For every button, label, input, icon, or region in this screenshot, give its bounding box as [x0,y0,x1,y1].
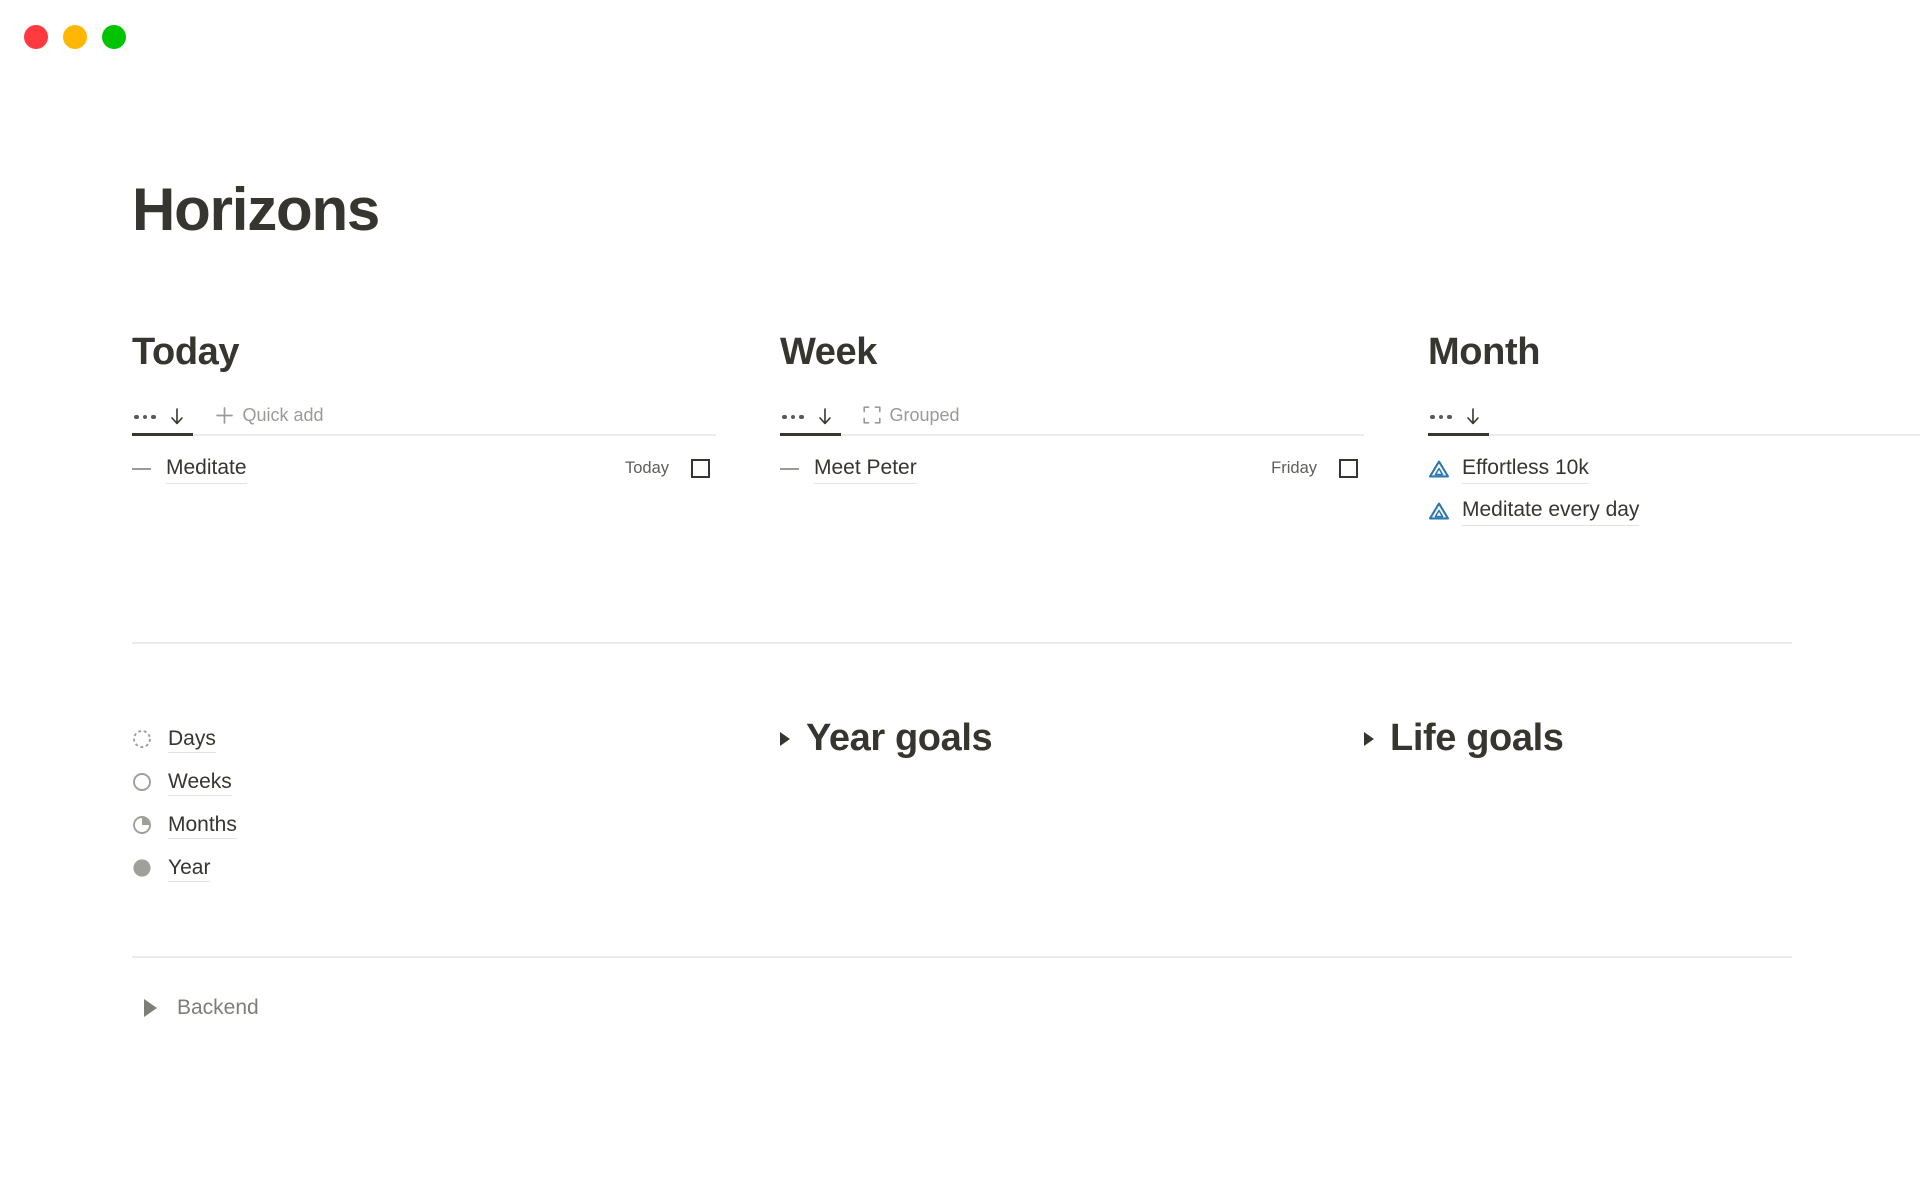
dashed-circle-icon [132,729,152,749]
triangle-right-icon[interactable] [1364,732,1374,746]
toolbar-view-tab-week[interactable] [780,408,841,436]
column-toolbar-today: Quick add [132,400,716,436]
column-toolbar-month [1428,400,1920,436]
table-row[interactable]: Meditate Today [132,448,716,490]
task-date: Today [625,459,669,478]
ellipsis-icon[interactable] [134,415,156,420]
toolbar-view-tab-month[interactable] [1428,408,1489,436]
triangle-right-icon[interactable] [780,732,790,746]
page-title: Horizons [132,180,1860,240]
arrow-down-icon[interactable] [169,408,185,426]
minimize-button[interactable] [63,25,87,49]
grouped-button-week[interactable]: Grouped [841,405,960,434]
grouped-label: Grouped [890,405,960,426]
task-list-month: Effortless 10k Meditate every day [1428,448,1920,532]
quarter-pie-icon [132,815,152,835]
ellipsis-icon[interactable] [1430,415,1452,420]
life-goals-header[interactable]: Life goals [1364,718,1920,760]
task-checkbox[interactable] [1339,459,1358,478]
year-goals-title: Year goals [806,718,992,760]
table-row[interactable]: Meet Peter Friday [780,448,1364,490]
task-list-week: Meet Peter Friday [780,448,1364,490]
plus-icon[interactable] [215,406,234,425]
column-toolbar-week: Grouped [780,400,1364,436]
year-goals-section: Year goals [780,718,1364,890]
triangle-right-icon[interactable] [144,999,157,1017]
life-goals-title: Life goals [1390,718,1564,760]
scale-label[interactable]: Weeks [168,768,232,796]
scale-label[interactable]: Year [168,854,210,882]
list-item[interactable]: Year [132,847,780,890]
task-title[interactable]: Meditate [166,454,247,484]
backend-label: Backend [177,996,259,1020]
task-date: Friday [1271,459,1317,478]
filled-circle-icon [132,858,152,878]
ellipsis-icon[interactable] [782,415,804,420]
life-goals-section: Life goals [1364,718,1920,890]
group-icon[interactable] [863,406,881,424]
board-columns: Today Quick add Medi [132,332,1860,532]
page-content: Horizons Today Quick add [0,180,1920,1020]
table-row[interactable]: Meditate every day [1428,490,1920,532]
backend-toggle[interactable]: Backend [132,996,1860,1020]
column-today: Today Quick add Medi [132,332,716,532]
section-divider [132,642,1792,644]
triangle-icon [1428,501,1462,521]
year-goals-header[interactable]: Year goals [780,718,1364,760]
column-title-week: Week [780,332,1364,374]
scales-list: Days Weeks Months [132,718,780,890]
arrow-down-icon[interactable] [817,408,833,426]
task-checkbox[interactable] [691,459,710,478]
column-title-today: Today [132,332,716,374]
table-row[interactable]: Effortless 10k [1428,448,1920,490]
list-item[interactable]: Days [132,718,780,761]
list-item[interactable]: Months [132,804,780,847]
column-month: Month Effortless [1428,332,1920,532]
column-title-month: Month [1428,332,1920,374]
lower-section: Days Weeks Months [132,718,1860,890]
quick-add-button-today[interactable]: Quick add [193,405,324,434]
dash-icon [132,468,166,471]
task-title[interactable]: Meet Peter [814,454,917,484]
scale-label[interactable]: Days [168,725,216,753]
section-divider [132,956,1792,958]
scale-label[interactable]: Months [168,811,237,839]
empty-circle-icon [132,772,152,792]
triangle-icon [1428,459,1462,479]
task-list-today: Meditate Today [132,448,716,490]
list-item[interactable]: Weeks [132,761,780,804]
dash-icon [780,468,814,471]
window-titlebar [0,0,1920,74]
close-button[interactable] [24,25,48,49]
quick-add-label: Quick add [243,405,324,426]
arrow-down-icon[interactable] [1465,408,1481,426]
task-title[interactable]: Effortless 10k [1462,454,1589,484]
toolbar-view-tab-today[interactable] [132,408,193,436]
column-week: Week Grouped Meet Pe [780,332,1364,532]
task-title[interactable]: Meditate every day [1462,496,1639,526]
maximize-button[interactable] [102,25,126,49]
